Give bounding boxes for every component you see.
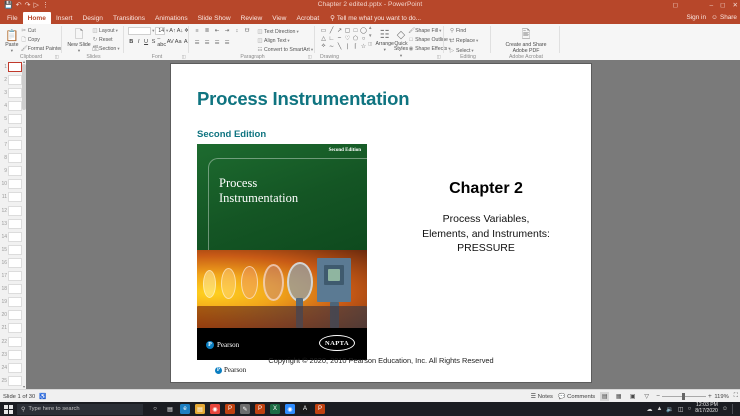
ribbon-group-clipboard: 📋 Paste ▾ ✂Cut 🗋Copy 🖌Format Painter Cli… — [0, 24, 62, 60]
slide-thumbnail-number: 14 — [1, 234, 7, 240]
chrome-icon[interactable]: ◉ — [210, 404, 220, 414]
slide-thumbnail-number: 4 — [1, 103, 7, 109]
slide-thumbnail-preview[interactable] — [8, 206, 22, 216]
system-tray: ☁ ▲ 🔉 ◫ ○ 12:03 PM 8/17/2020 ☺ — [646, 403, 737, 414]
align-text-icon: ◫ — [257, 38, 263, 44]
slide-thumbnail-preview[interactable] — [8, 350, 22, 360]
increase-indent-icon[interactable]: ⇥ — [223, 27, 231, 35]
excel-icon[interactable]: X — [270, 404, 280, 414]
shape-oval-icon[interactable]: ◯ — [360, 27, 367, 34]
ribbon-display-options-icon[interactable]: ◻ — [673, 1, 678, 9]
minimize-icon[interactable]: – — [710, 1, 714, 11]
status-bar: Slide 1 of 30 ♿ ☰ Notes 💬 Comments ▤ ▦ ▣… — [0, 389, 740, 403]
quick-styles-label: Quick Styles — [394, 42, 408, 53]
font-size-input[interactable]: 14 — [155, 27, 165, 35]
taskbar-pinned-apps: ○▤e▤◉P✎PX◉AP — [143, 404, 325, 414]
paintbrush-icon: 🖌 — [21, 46, 27, 52]
align-text-label: Align Text — [264, 38, 286, 44]
justify-icon[interactable]: ☰ — [223, 39, 231, 47]
decrease-font-size-icon[interactable]: A↓ — [177, 27, 184, 35]
description-line-3: PRESSURE — [386, 241, 586, 256]
tab-transitions[interactable]: Transitions — [108, 12, 150, 24]
tab-view[interactable]: View — [267, 12, 291, 24]
pearson-text: Pearson — [217, 341, 239, 349]
cover-title: Process Instrumentation — [219, 176, 298, 206]
shape-diagonal-icon[interactable]: ╲ — [336, 43, 343, 50]
align-left-icon[interactable]: ☰ — [193, 39, 201, 47]
slide-thumbnail-preview[interactable] — [8, 127, 22, 137]
shape-fill-icon: 🖌 — [408, 28, 414, 34]
shape-square-icon[interactable]: □ — [352, 27, 359, 34]
cut-button[interactable]: ✂Cut — [21, 27, 62, 35]
zoom-in-button[interactable]: + — [708, 394, 712, 400]
slide-thumbnail-preview[interactable] — [8, 219, 22, 229]
powerpoint-2-icon[interactable]: P — [255, 404, 265, 414]
italic-icon[interactable]: I — [135, 38, 141, 46]
shape-line-icon[interactable]: ╱ — [328, 27, 335, 34]
fit-slide-to-window-button[interactable]: ⛶ — [734, 393, 738, 400]
slide-thumbnail-number: 9 — [1, 168, 7, 174]
slide-thumbnail-number: 12 — [1, 208, 7, 214]
napta-text: NAPTA — [325, 340, 349, 347]
decrease-indent-icon[interactable]: ⇤ — [213, 27, 221, 35]
align-text-button[interactable]: ◫Align Text▾ — [257, 37, 313, 45]
slide-thumbnail-number: 7 — [1, 142, 7, 148]
scroll-up-icon[interactable]: ▲ — [368, 25, 372, 30]
slide-thumbnail-number: 23 — [1, 352, 7, 358]
zoom-level-label[interactable]: 119% — [714, 394, 729, 400]
shape-fill-label: Shape Fill — [415, 28, 438, 34]
zoom-slider-handle[interactable] — [682, 393, 685, 400]
slide-thumbnail-preview[interactable] — [8, 258, 22, 268]
slide-thumbnail-preview[interactable] — [8, 75, 22, 85]
book-cover-image[interactable]: Second Edition Process Instrumentation — [197, 144, 367, 360]
ribbon-group-font: ▾ 14 ▾ A↑ A↓ ✲ B I U S –abc AV Aa A — [125, 24, 189, 60]
snipping-tool-icon[interactable]: ✎ — [240, 404, 250, 414]
shape-triangle-icon[interactable]: △ — [320, 35, 327, 42]
tab-review[interactable]: Review — [236, 12, 268, 24]
slide-copyright: Copyright © 2020, 2010 Pearson Education… — [171, 356, 591, 365]
notes-icon: ☰ — [531, 394, 536, 400]
person-icon: ☺ — [711, 14, 718, 21]
slide-thumbnail-number: 10 — [1, 181, 7, 187]
bold-icon[interactable]: B — [128, 38, 134, 46]
zoom-icon[interactable]: ◉ — [285, 404, 295, 414]
chevron-down-icon[interactable]: ▾ — [166, 28, 168, 34]
slide-thumbnail-preview[interactable] — [8, 179, 22, 189]
slide-thumbnail-pane[interactable]: 1234567891011121314151617181920212223242… — [0, 60, 27, 389]
slide-show-view-button[interactable]: ▽ — [642, 392, 651, 401]
zoom-out-button[interactable]: − — [656, 394, 660, 400]
tab-design[interactable]: Design — [77, 12, 108, 24]
find-button[interactable]: ⚲Find — [449, 27, 491, 35]
slide-thumbnail-preview[interactable] — [8, 232, 22, 242]
text-direction-icon: ◫ — [257, 29, 263, 35]
slide-thumbnail-preview[interactable] — [8, 62, 22, 72]
layout-label: Layout — [99, 28, 115, 34]
slide-thumbnail-preview[interactable] — [8, 310, 22, 320]
tab-file[interactable]: File — [2, 12, 23, 24]
slide-thumbnail-preview[interactable] — [8, 114, 22, 124]
paste-button[interactable]: 📋 Paste ▾ — [3, 26, 21, 54]
shape-effects-icon: ◉ — [408, 46, 414, 52]
cover-photo-instruments — [197, 250, 367, 328]
layout-icon: ◫ — [92, 28, 98, 34]
replace-button[interactable]: ⇄Replace▾ — [449, 37, 491, 45]
slide-pearson-logo: P Pearson — [215, 366, 246, 374]
copy-label: Copy — [28, 37, 40, 43]
shape-star-icon[interactable]: ☆ — [360, 43, 367, 50]
slide-thumbnail-number: 1 — [1, 64, 7, 70]
replace-icon: ⇄ — [449, 38, 455, 44]
layout-button[interactable]: ◫Layout▾ — [92, 27, 120, 35]
edge-icon[interactable]: e — [180, 404, 190, 414]
reset-button[interactable]: ↻Reset — [92, 36, 120, 44]
slide-thumbnail-preview[interactable] — [8, 376, 22, 386]
align-center-icon[interactable]: ☰ — [203, 39, 211, 47]
pearson-mark: P — [215, 367, 222, 374]
slide-thumbnail-number: 15 — [1, 247, 7, 253]
onedrive-icon[interactable]: ☁ — [646, 406, 652, 413]
window-title: Chapter 2 edited.pptx - PowerPoint — [0, 1, 740, 8]
slide-thumbnail-number: 21 — [1, 325, 7, 331]
slide-subtitle[interactable]: Second Edition — [197, 129, 266, 140]
normal-view-button[interactable]: ▤ — [600, 392, 609, 401]
powerpoint-icon[interactable]: P — [225, 404, 235, 414]
shape-outline-icon: □ — [408, 37, 414, 43]
text-direction-button[interactable]: ◫Text Direction▾ — [257, 28, 313, 36]
bullets-icon[interactable]: ≡ — [193, 27, 201, 35]
napta-logo: NAPTA — [319, 335, 355, 351]
slide-thumbnail-number: 19 — [1, 299, 7, 305]
cut-label: Cut — [28, 28, 36, 34]
tab-animations[interactable]: Animations — [150, 12, 193, 24]
underline-icon[interactable]: U — [143, 38, 149, 46]
slide-thumbnail-number: 2 — [1, 77, 7, 83]
show-desktop-button[interactable] — [732, 404, 737, 414]
increase-font-size-icon[interactable]: A↑ — [169, 27, 176, 35]
task-view-icon[interactable]: ▤ — [165, 404, 175, 414]
pearson-mark: P — [206, 341, 214, 349]
format-painter-button[interactable]: 🖌Format Painter — [21, 45, 62, 53]
find-label: Find — [456, 28, 466, 34]
taskbar: ⚲ Type here to search ○▤e▤◉P✎PX◉AP ☁ ▲ 🔉… — [0, 402, 740, 416]
shapes-more-icon[interactable]: ◫ — [368, 41, 372, 46]
arrange-icon: ☷ — [378, 27, 392, 41]
cortana-icon[interactable]: ○ — [150, 404, 160, 414]
quick-styles-icon: ◇ — [394, 27, 408, 41]
shape-rectangle-icon[interactable]: ▭ — [320, 27, 327, 34]
numbering-icon[interactable]: ≣ — [203, 27, 211, 35]
clock[interactable]: 12:03 PM 8/17/2020 — [695, 403, 718, 414]
speaker-icon[interactable]: 🔉 — [666, 406, 673, 413]
tab-home[interactable]: Home — [23, 12, 51, 24]
copy-button[interactable]: 🗋Copy — [21, 36, 62, 44]
shape-bracket-icon[interactable]: ∣ — [344, 43, 351, 50]
slide-chapter-heading[interactable]: Chapter 2 — [386, 180, 586, 198]
pearson-text: Pearson — [224, 366, 246, 374]
title-bar: 💾 ↶ ↷ ▷ ⋮ Chapter 2 edited.pptx - PowerP… — [0, 0, 740, 12]
strikethrough-icon[interactable]: –abc — [158, 38, 166, 46]
windows-logo-icon — [4, 405, 13, 414]
tab-slide-show[interactable]: Slide Show — [193, 12, 236, 24]
new-slide-icon: 🗋 — [72, 28, 86, 42]
ribbon-group-paragraph: ≡ ≣ ⇤ ⇥ ↕ ☋ ☰ ☰ ☰ ☰ ◫Text Direc — [190, 24, 315, 60]
shape-circle-icon[interactable]: ○ — [360, 35, 367, 42]
slide-thumbnail-preview[interactable] — [8, 140, 22, 150]
search-icon: ⚲ — [21, 406, 25, 413]
slide-thumbnail-preview[interactable] — [8, 271, 22, 281]
shapes-gallery-scrollbar[interactable]: ▲ ▼ ◫ — [368, 25, 372, 46]
shape-hexagon-icon[interactable]: ⬠ — [352, 35, 359, 42]
slide-thumbnail-preview[interactable] — [8, 363, 22, 373]
replace-label: Replace — [456, 38, 475, 44]
font-name-input[interactable] — [128, 27, 151, 35]
slide-thumbnail-number: 20 — [1, 312, 7, 318]
slide-thumbnail-preview[interactable] — [8, 297, 22, 307]
new-slide-button[interactable]: 🗋 New Slide ▾ — [66, 26, 92, 54]
slide-canvas[interactable]: Process Instrumentation Second Edition S… — [171, 64, 591, 382]
clipboard-icon: 📋 — [5, 28, 19, 42]
slide-thumbnail-number: 16 — [1, 260, 7, 266]
battery-icon[interactable]: ◫ — [678, 406, 684, 413]
slide-edit-area[interactable]: Process Instrumentation Second Edition S… — [26, 60, 740, 389]
slide-thumbnail-preview[interactable] — [8, 166, 22, 176]
slide-thumbnail-number: 11 — [1, 194, 7, 200]
slide-thumbnail-preview[interactable] — [8, 245, 22, 255]
accessibility-icon[interactable]: ♿ — [39, 394, 46, 400]
slide-thumbnail-preview[interactable] — [8, 192, 22, 202]
shape-wave-icon[interactable]: ∼ — [328, 43, 335, 50]
search-icon: ⚲ — [330, 14, 335, 22]
slide-description[interactable]: Process Variables, Elements, and Instrum… — [386, 212, 586, 256]
tab-insert[interactable]: Insert — [51, 12, 78, 24]
copy-icon: 🗋 — [21, 37, 27, 43]
section-button[interactable]: 🗃Section▾ — [92, 45, 120, 53]
tell-me-search[interactable]: ⚲ Tell me what you want to do... — [324, 12, 421, 24]
cover-title-line1: Process — [219, 176, 298, 191]
slide-thumbnail-preview[interactable] — [8, 337, 22, 347]
reading-view-button[interactable]: ▣ — [628, 392, 637, 401]
align-right-icon[interactable]: ☰ — [213, 39, 221, 47]
line-spacing-icon[interactable]: ↕ — [233, 27, 241, 35]
slide-thumbnail-preview[interactable] — [8, 323, 22, 333]
create-and-share-adobe-pdf-button[interactable]: 🖹 Create and Share Adobe PDF — [496, 26, 556, 55]
notes-button[interactable]: ☰ Notes — [531, 394, 553, 400]
cover-edition-label: Second Edition — [329, 148, 361, 153]
comments-button[interactable]: 💬 Comments — [558, 394, 595, 400]
text-shadow-icon[interactable]: S — [150, 38, 156, 46]
format-painter-label: Format Painter — [28, 46, 62, 52]
scissors-icon: ✂ — [21, 28, 27, 34]
restore-icon[interactable]: ◻ — [720, 1, 725, 11]
smartart-icon: ☷ — [257, 47, 263, 53]
taskbar-search-input[interactable]: ⚲ Type here to search — [17, 404, 143, 415]
shape-rounded-rect-icon[interactable]: ▢ — [344, 27, 351, 34]
slide-thumbnail-number: 13 — [1, 221, 7, 227]
adobe-pdf-icon: 🖹 — [519, 28, 533, 42]
smartart-label: Convert to SmartArt — [264, 47, 310, 53]
comment-icon: 💬 — [558, 394, 565, 400]
zoom-slider-track[interactable] — [662, 396, 706, 397]
slide-thumbnail-number: 5 — [1, 116, 7, 122]
cover-pearson-logo: P Pearson — [206, 341, 239, 349]
shape-brace-icon[interactable]: ⌈ — [352, 43, 359, 50]
shape-corner-icon[interactable]: ∟ — [328, 35, 335, 42]
slide-thumbnail-number: 24 — [1, 365, 7, 371]
share-label: Share — [720, 14, 737, 21]
shape-arrow-icon[interactable]: ↗ — [336, 27, 343, 34]
slide-title[interactable]: Process Instrumentation — [197, 88, 409, 110]
slide-thumbnail-number: 22 — [1, 339, 7, 345]
zoom-control[interactable]: − + 119% — [656, 394, 729, 400]
reset-label: Reset — [99, 37, 113, 43]
columns-icon[interactable]: ☋ — [243, 27, 251, 35]
cover-top-panel: Second Edition Process Instrumentation — [197, 144, 367, 250]
start-button[interactable] — [0, 402, 17, 416]
slide-thumbnail-number: 25 — [1, 378, 7, 384]
share-button[interactable]: ☺ Share — [711, 14, 737, 21]
slide-indicator[interactable]: Slide 1 of 30 — [3, 394, 35, 400]
clock-date: 8/17/2020 — [695, 409, 718, 415]
description-line-2: Elements, and Instruments: — [386, 227, 586, 242]
slide-thumbnail-number: 6 — [1, 129, 7, 135]
change-case-icon[interactable]: Aa — [175, 38, 182, 46]
acrobat-icon[interactable]: A — [300, 404, 310, 414]
powerpoint-window: 💾 ↶ ↷ ▷ ⋮ Chapter 2 edited.pptx - PowerP… — [0, 0, 740, 416]
file-explorer-icon[interactable]: ▤ — [195, 404, 205, 414]
slide-thumbnail-number: 18 — [1, 286, 7, 292]
shape-heart-icon[interactable]: ♡ — [344, 35, 351, 42]
tell-me-label: Tell me what you want to do... — [337, 15, 421, 22]
close-icon[interactable]: ✕ — [733, 1, 738, 11]
slide-thumbnail-preview[interactable] — [8, 88, 22, 98]
cover-title-line2: Instrumentation — [219, 191, 298, 206]
slide-thumbnail-preview[interactable] — [8, 153, 22, 163]
convert-to-smartart-button[interactable]: ☷Convert to SmartArt▾ — [257, 46, 313, 54]
notes-label: Notes — [538, 394, 553, 400]
slide-sorter-view-button[interactable]: ▦ — [614, 392, 623, 401]
ribbon-tab-strip: File Home Insert Design Transitions Anim… — [0, 12, 740, 24]
search-placeholder: Type here to search — [28, 406, 79, 412]
comments-label: Comments — [567, 394, 595, 400]
ribbon-group-drawing: ▭ ╱ ↗ ▢ □ ◯ △ ∟ ⌣ ♡ ⬠ ○ ⟡ ∼ ╲ ∣ ⌈ — [316, 24, 444, 60]
ribbon: 📋 Paste ▾ ✂Cut 🗋Copy 🖌Format Painter Cli… — [0, 24, 740, 61]
sign-in-button[interactable]: Sign in — [686, 14, 706, 21]
ribbon-group-adobe-acrobat: 🖹 Create and Share Adobe PDF Adobe Acrob… — [492, 24, 560, 60]
network-icon[interactable]: ▲ — [656, 406, 662, 412]
section-icon: 🗃 — [92, 46, 98, 52]
reset-icon: ↻ — [92, 37, 98, 43]
slide-thumbnail-preview[interactable] — [8, 101, 22, 111]
tab-acrobat[interactable]: Acrobat — [291, 12, 324, 24]
section-label: Section — [99, 46, 116, 52]
workspace: 1234567891011121314151617181920212223242… — [0, 60, 740, 389]
slide-thumbnail-number: 8 — [1, 155, 7, 161]
chevron-down-icon[interactable]: ▾ — [384, 47, 386, 53]
text-direction-label: Text Direction — [264, 29, 295, 35]
description-line-1: Process Variables, — [386, 212, 586, 227]
search-icon: ⚲ — [449, 28, 455, 34]
slide-thumbnail-preview[interactable] — [8, 284, 22, 294]
character-spacing-icon[interactable]: AV — [167, 38, 174, 46]
powerpoint-3-icon[interactable]: P — [315, 404, 325, 414]
slide-thumbnail-number: 3 — [1, 90, 7, 96]
shape-curve-icon[interactable]: ⌣ — [336, 35, 343, 42]
ribbon-group-slides: 🗋 New Slide ▾ ◫Layout▾ ↻Reset 🗃Section▾ … — [63, 24, 124, 60]
input-indicator-icon[interactable]: ○ — [688, 406, 692, 412]
chevron-down-icon[interactable]: ▾ — [152, 28, 154, 34]
ribbon-group-editing: ⚲Find ⇄Replace▾ ▷Select▾ Editing — [445, 24, 491, 60]
action-center-icon[interactable]: ☺ — [722, 406, 728, 412]
scroll-down-icon[interactable]: ▼ — [368, 33, 372, 38]
slide-thumbnail-number: 17 — [1, 273, 7, 279]
shape-freeform-icon[interactable]: ⟡ — [320, 43, 327, 50]
